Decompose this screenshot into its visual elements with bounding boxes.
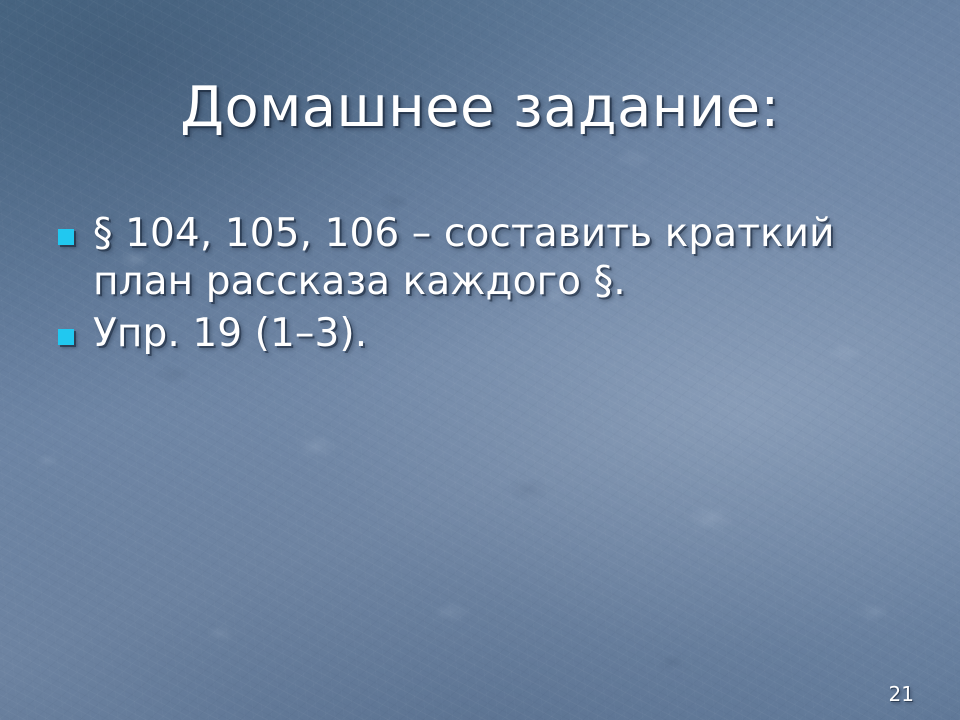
slide-number: 21 bbox=[889, 682, 914, 706]
square-bullet-icon bbox=[58, 229, 74, 245]
bullet-item-2: Упр. 19 (1–3). bbox=[58, 310, 918, 358]
bullet-item-1-text: § 104, 105, 106 – составить краткий план… bbox=[93, 210, 918, 306]
bullet-item-1: § 104, 105, 106 – составить краткий план… bbox=[58, 210, 918, 306]
slide-body-content: § 104, 105, 106 – составить краткий план… bbox=[58, 210, 918, 362]
slide-title: Домашнее задание: bbox=[0, 76, 960, 140]
square-bullet-icon bbox=[58, 329, 74, 345]
bullet-item-2-text: Упр. 19 (1–3). bbox=[93, 310, 918, 358]
presentation-slide: Домашнее задание: § 104, 105, 106 – сост… bbox=[0, 0, 960, 720]
